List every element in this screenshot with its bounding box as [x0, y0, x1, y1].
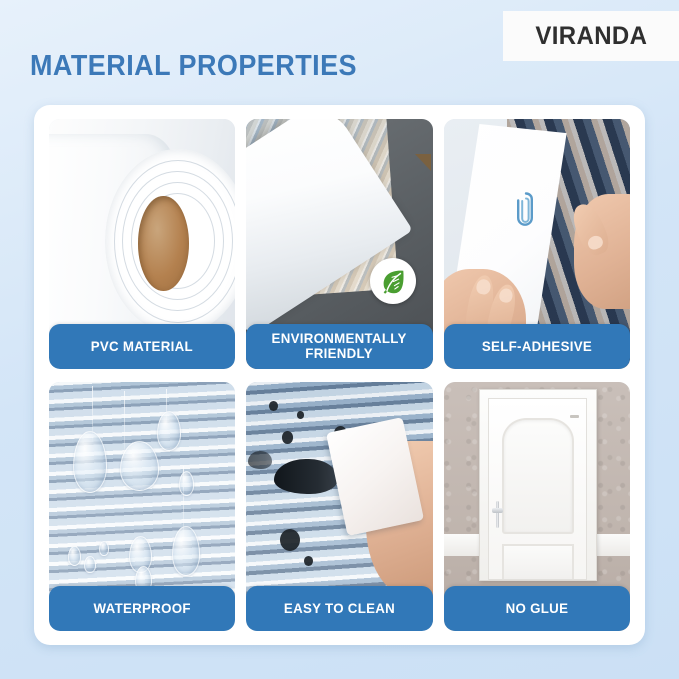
water-droplet	[99, 541, 108, 555]
door-handle-lever	[492, 508, 503, 513]
fingernail	[498, 287, 514, 304]
water-droplet	[68, 546, 81, 565]
door-leaf	[488, 398, 587, 580]
water-droplet	[172, 526, 200, 575]
stain-spot	[282, 431, 293, 443]
brand-logo: VIRANDA	[503, 11, 679, 61]
door-frame	[479, 389, 597, 581]
stain-spot	[297, 411, 304, 418]
feature-card-waterproof: WATERPROOF	[49, 382, 235, 632]
door-handle	[492, 501, 503, 528]
fingernail	[476, 278, 492, 295]
stain-smear	[274, 459, 337, 494]
pvc-cardboard-core	[138, 196, 188, 291]
feature-grid: PVC MATERIAL EN	[49, 119, 630, 631]
door-vent	[570, 415, 579, 419]
card-label-environmentally-friendly: ENVIRONMENTALLY FRIENDLY	[246, 324, 432, 369]
feature-card-environmentally-friendly: ENVIRONMENTALLY FRIENDLY	[246, 119, 432, 369]
leaf-icon	[370, 258, 416, 304]
eco-peel-corner	[415, 154, 431, 171]
feature-card-pvc-material: PVC MATERIAL	[49, 119, 235, 369]
finger	[568, 200, 614, 259]
card-label-text: ENVIRONMENTALLY FRIENDLY	[268, 331, 411, 361]
water-droplet	[179, 471, 194, 495]
water-droplet	[84, 556, 95, 573]
door-handle-plate	[496, 501, 499, 528]
feature-card-easy-to-clean: EASY TO CLEAN	[246, 382, 432, 632]
hand-right	[574, 194, 630, 309]
card-label-text: SELF-ADHESIVE	[478, 339, 596, 354]
card-label-text: NO GLUE	[502, 601, 572, 616]
droplet-trail	[124, 391, 125, 456]
brand-logo-text: VIRANDA	[535, 22, 647, 51]
header: MATERIAL PROPERTIES VIRANDA	[0, 0, 679, 105]
water-droplet	[120, 441, 159, 490]
card-label-waterproof: WATERPROOF	[49, 586, 235, 631]
water-droplet	[73, 431, 107, 493]
paperclip-icon	[513, 189, 539, 229]
card-label-pvc-material: PVC MATERIAL	[49, 324, 235, 369]
feature-card-self-adhesive: SELF-ADHESIVE	[444, 119, 630, 369]
feature-card-no-glue: NO GLUE	[444, 382, 630, 632]
card-label-text: PVC MATERIAL	[87, 339, 197, 354]
card-label-no-glue: NO GLUE	[444, 586, 630, 631]
door-panel-top	[502, 418, 574, 534]
content-panel: PVC MATERIAL EN	[34, 105, 645, 645]
water-droplet	[157, 411, 181, 450]
card-label-easy-to-clean: EASY TO CLEAN	[246, 586, 432, 631]
card-label-self-adhesive: SELF-ADHESIVE	[444, 324, 630, 369]
card-label-text: EASY TO CLEAN	[280, 601, 399, 616]
fingernail	[586, 233, 606, 252]
stain-smear	[248, 451, 272, 468]
card-label-text: WATERPROOF	[90, 601, 195, 616]
page-title: MATERIAL PROPERTIES	[30, 50, 357, 83]
door-panel-bottom	[502, 544, 574, 578]
